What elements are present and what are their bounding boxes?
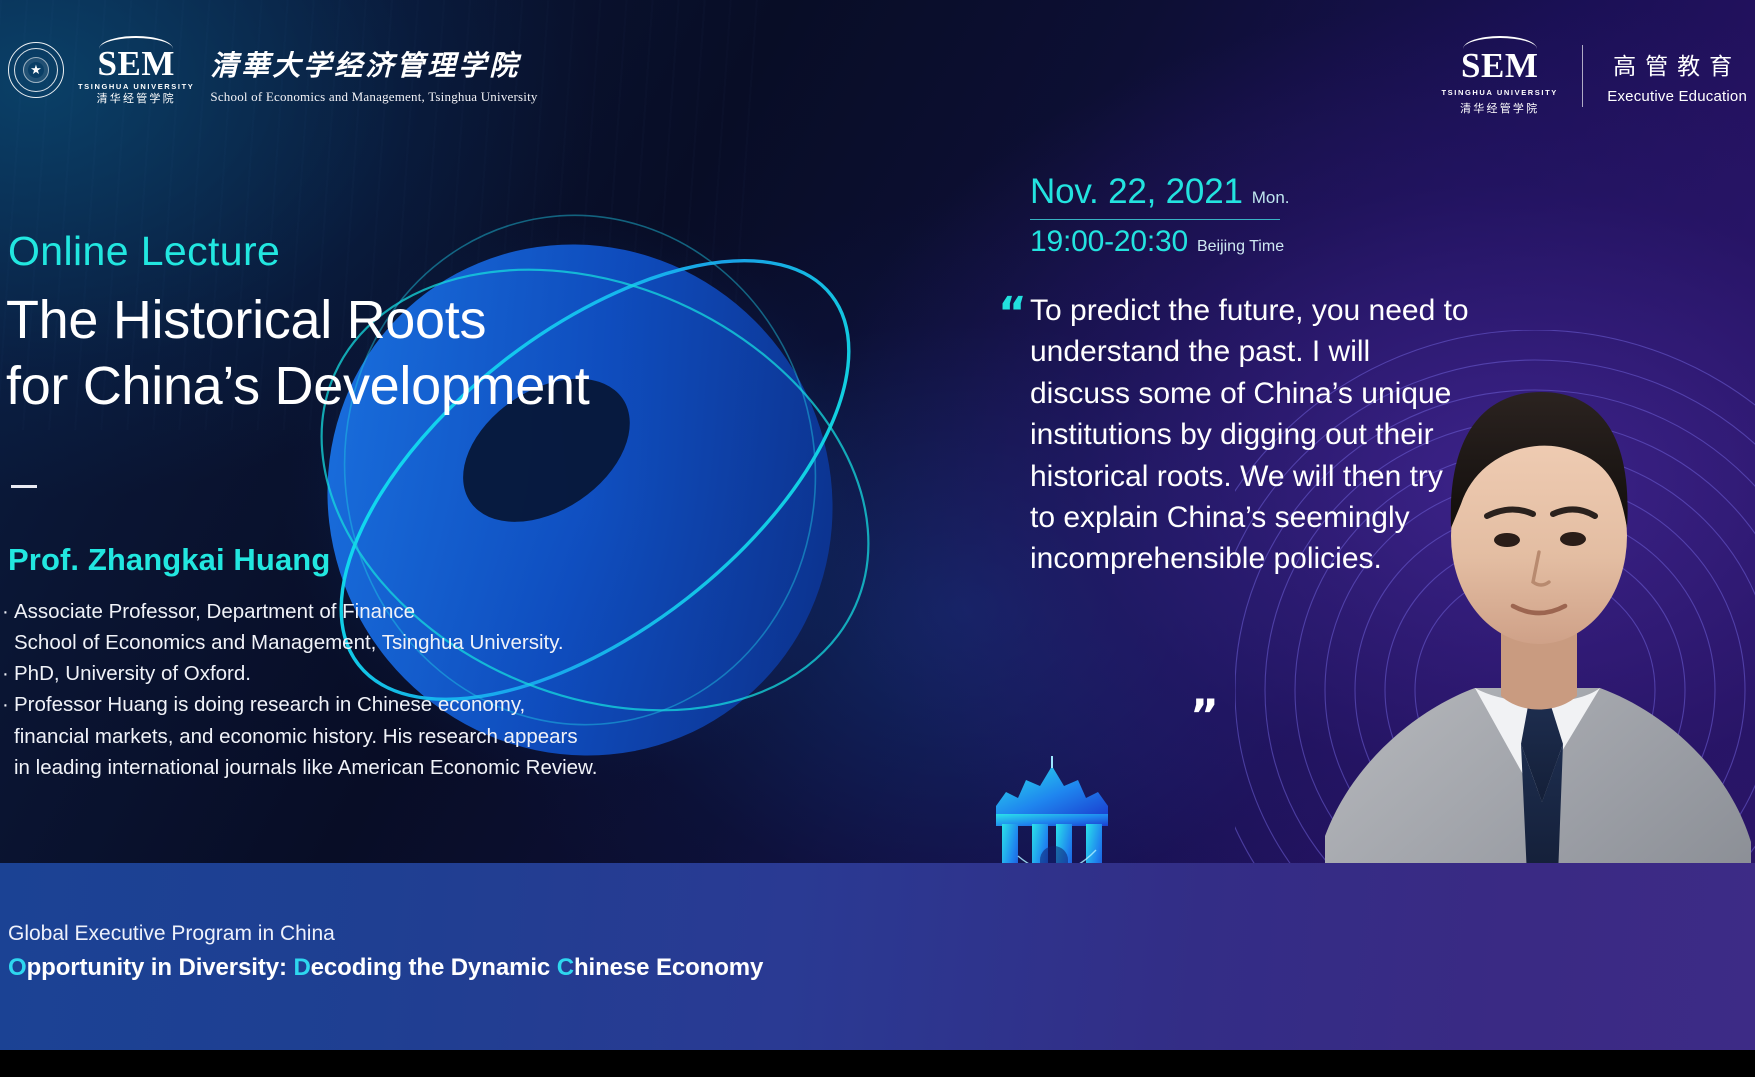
tagline-text: hinese Economy (574, 954, 763, 981)
sem-wordmark: SEM (98, 46, 175, 81)
title-line-1: The Historical Roots (6, 288, 826, 354)
letterbox-bar (0, 1050, 1755, 1077)
speaker-bio-list: ·Associate Professor, Department of Fina… (2, 596, 762, 783)
page-title: The Historical Roots for China’s Develop… (6, 288, 826, 420)
lecture-time: 19:00-20:30 (1030, 225, 1188, 259)
sem-mark-right: SEM TSINGHUA UNIVERSITY 清华经管学院 (1442, 36, 1582, 116)
sem-sub-cn: 清华经管学院 (97, 94, 176, 105)
sem-sub-en-right: TSINGHUA UNIVERSITY (1442, 88, 1558, 97)
tagline-highlight: O (8, 954, 27, 981)
lecture-timezone: Beijing Time (1197, 238, 1284, 256)
lecture-kicker: Online Lecture (8, 228, 280, 275)
list-item-label: Associate Professor, Department of Finan… (14, 596, 415, 627)
bullet-dot-icon (2, 627, 14, 658)
tsinghua-seal-icon: ★ (8, 42, 64, 98)
lecture-weekday: Mon. (1252, 188, 1290, 208)
sem-logo-left: ★ SEM TSINGHUA UNIVERSITY 清华经管学院 清華大学经济管… (8, 36, 538, 105)
list-item: ·Professor Huang is doing research in Ch… (2, 689, 762, 720)
tagline-text: pportunity in Diversity: (27, 954, 294, 981)
list-item-label: in leading international journals like A… (14, 752, 597, 783)
bullet-dot-icon: · (2, 689, 14, 720)
executive-education-en: Executive Education (1607, 88, 1747, 105)
title-line-2: for China’s Development (6, 354, 826, 420)
list-item-label: School of Economics and Management, Tsin… (14, 627, 564, 658)
bullet-dot-icon: · (2, 658, 14, 689)
list-item-label: PhD, University of Oxford. (14, 658, 251, 689)
list-item-label: financial markets, and economic history.… (14, 721, 578, 752)
school-name-en: School of Economics and Management, Tsin… (210, 89, 537, 105)
executive-education-cn: 高管教育 (1613, 47, 1741, 81)
speaker-name: Prof. Zhangkai Huang (8, 542, 330, 578)
school-name-cn: 清華大学经济管理学院 (210, 44, 537, 84)
list-item: in leading international journals like A… (2, 752, 762, 783)
sem-logo-right: SEM TSINGHUA UNIVERSITY 清华经管学院 高管教育 Exec… (1442, 36, 1748, 116)
tagline-highlight: C (557, 954, 574, 981)
list-item: School of Economics and Management, Tsin… (2, 627, 762, 658)
seal-star-icon: ★ (30, 63, 42, 76)
program-tagline: Opportunity in Diversity: Decoding the D… (8, 954, 763, 982)
quote-open-icon: “ (998, 292, 1027, 336)
list-item: financial markets, and economic history.… (2, 721, 762, 752)
tagline-text: ecoding the Dynamic (311, 954, 557, 981)
lecture-date: Nov. 22, 2021 (1030, 172, 1243, 212)
bullet-dot-icon: · (2, 596, 14, 627)
title-divider (11, 485, 37, 488)
tagline-highlight: D (293, 954, 310, 981)
sem-sub-en: TSINGHUA UNIVERSITY (78, 83, 194, 91)
sem-sub-cn-right: 清华经管学院 (1460, 100, 1539, 116)
list-item: ·Associate Professor, Department of Fina… (2, 596, 762, 627)
schedule-divider (1030, 219, 1280, 220)
program-name: Global Executive Program in China (8, 922, 335, 946)
bullet-dot-icon (2, 721, 14, 752)
bullet-dot-icon (2, 752, 14, 783)
sem-wordmark-right: SEM (1461, 46, 1538, 86)
list-item: ·PhD, University of Oxford. (2, 658, 762, 689)
quote-close-icon: “ (1190, 672, 1219, 716)
poster-canvas: ★ SEM TSINGHUA UNIVERSITY 清华经管学院 清華大学经济管… (0, 0, 1755, 1050)
schedule-block: Nov. 22, 2021 Mon. 19:00-20:30 Beijing T… (1030, 172, 1360, 259)
list-item-label: Professor Huang is doing research in Chi… (14, 689, 525, 720)
